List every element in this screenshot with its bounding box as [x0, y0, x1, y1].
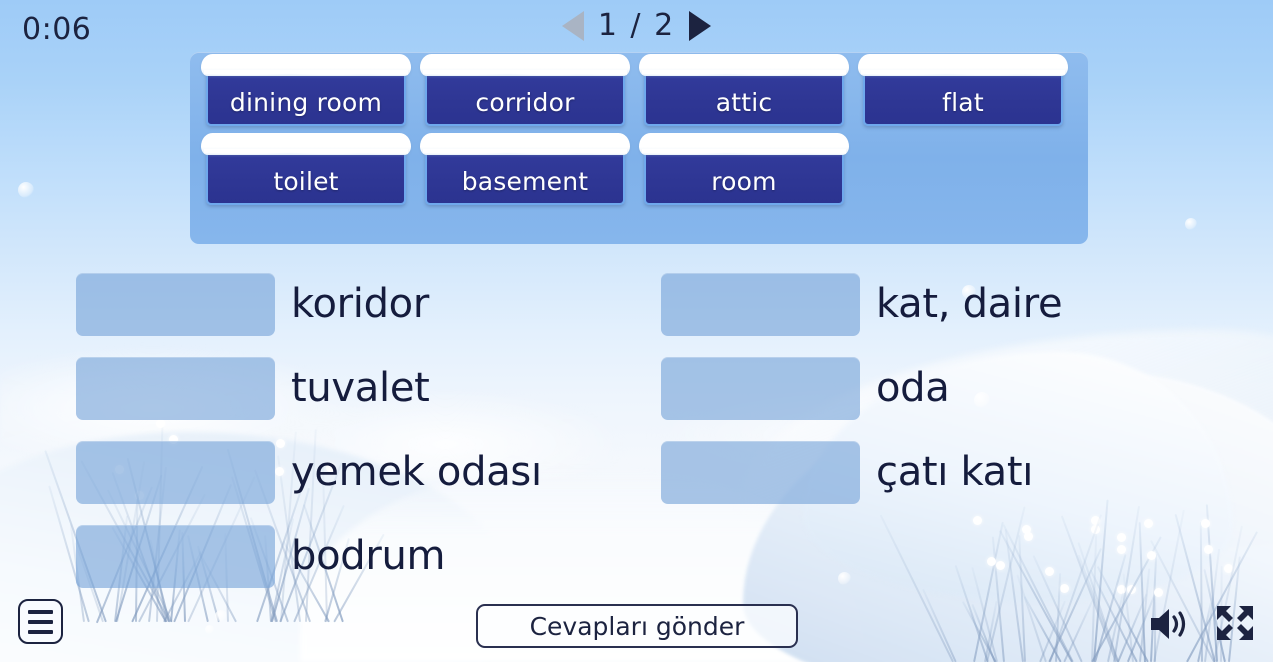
frost-twig	[1063, 599, 1094, 662]
word-tile[interactable]: toilet	[206, 142, 406, 205]
fullscreen-expand-icon	[1213, 602, 1257, 644]
frost-twig	[1200, 522, 1203, 662]
answer-row: tuvalet	[76, 346, 661, 430]
word-tile[interactable]: corridor	[425, 63, 625, 126]
word-tile[interactable]: basement	[425, 142, 625, 205]
word-tile-label: room	[711, 167, 776, 196]
frost-twig	[1197, 602, 1212, 662]
frost-twig	[922, 588, 957, 662]
frost-twig	[1117, 593, 1147, 662]
frost-bud	[1204, 545, 1213, 554]
word-tile-label: flat	[942, 88, 984, 117]
prev-page-icon[interactable]	[562, 11, 584, 41]
word-tile-label: dining room	[230, 88, 382, 117]
hamburger-menu-icon	[28, 620, 53, 624]
answer-dropzone[interactable]	[76, 525, 275, 588]
answer-dropzone[interactable]	[76, 357, 275, 420]
submit-answers-button[interactable]: Cevapları gönder	[476, 604, 798, 648]
hamburger-menu-icon	[28, 630, 53, 634]
answer-row: yemek odası	[76, 430, 661, 514]
answer-dropzone[interactable]	[661, 357, 860, 420]
answer-row-empty	[661, 514, 1186, 598]
frost-bud	[1201, 519, 1210, 528]
word-tile-label: attic	[716, 88, 773, 117]
hamburger-menu-icon	[28, 610, 53, 614]
word-tile[interactable]: dining room	[206, 63, 406, 126]
word-tile[interactable]: attic	[644, 63, 844, 126]
answer-grid: koridorkat, dairetuvaletodayemek odasıça…	[76, 262, 1186, 598]
answer-prompt-label: tuvalet	[291, 365, 430, 411]
answer-dropzone[interactable]	[76, 441, 275, 504]
answer-prompt-label: kat, daire	[876, 281, 1062, 327]
answer-row: bodrum	[76, 514, 661, 598]
word-tile-label: basement	[462, 167, 589, 196]
word-bank-panel: dining roomcorridoratticflattoiletbaseme…	[190, 52, 1088, 244]
word-tile[interactable]: flat	[863, 63, 1063, 126]
word-tile-row: dining roomcorridoratticflat	[206, 63, 1088, 126]
snow-particle	[205, 625, 214, 634]
answer-row: oda	[661, 346, 1186, 430]
answer-dropzone[interactable]	[661, 273, 860, 336]
page-indicator: 1 / 2	[598, 8, 675, 43]
answer-dropzone[interactable]	[661, 441, 860, 504]
answer-dropzone[interactable]	[76, 273, 275, 336]
answer-row: çatı katı	[661, 430, 1186, 514]
fullscreen-button[interactable]	[1213, 602, 1257, 644]
submit-answers-label: Cevapları gönder	[530, 612, 745, 641]
next-page-icon[interactable]	[689, 11, 711, 41]
answer-prompt-label: yemek odası	[291, 449, 542, 495]
answer-prompt-label: çatı katı	[876, 449, 1033, 495]
word-tile[interactable]: room	[644, 142, 844, 205]
frost-twig	[1024, 596, 1062, 662]
snow-particle	[1185, 218, 1197, 230]
answer-prompt-label: bodrum	[291, 533, 445, 579]
word-tile-row: toiletbasementroom	[206, 142, 1088, 205]
quiz-app: 0:06 1 / 2 dining roomcorridoratticflatt…	[0, 0, 1273, 662]
frost-twig	[1039, 601, 1066, 662]
sound-toggle-button[interactable]	[1147, 604, 1191, 644]
word-tile-label: toilet	[273, 167, 338, 196]
word-tile-label: corridor	[475, 88, 574, 117]
pagination-control: 1 / 2	[0, 8, 1273, 43]
speaker-volume-icon	[1147, 604, 1191, 644]
menu-button[interactable]	[18, 599, 63, 644]
answer-row: koridor	[76, 262, 661, 346]
answer-prompt-label: koridor	[291, 281, 429, 327]
snow-particle	[215, 610, 227, 622]
frost-twig	[971, 604, 996, 662]
frost-twig	[962, 601, 997, 662]
answer-row: kat, daire	[661, 262, 1186, 346]
frost-twig	[984, 601, 998, 662]
snow-particle	[18, 182, 34, 198]
frost-twig	[1107, 593, 1124, 662]
answer-prompt-label: oda	[876, 365, 949, 411]
frost-bud	[1224, 564, 1233, 573]
